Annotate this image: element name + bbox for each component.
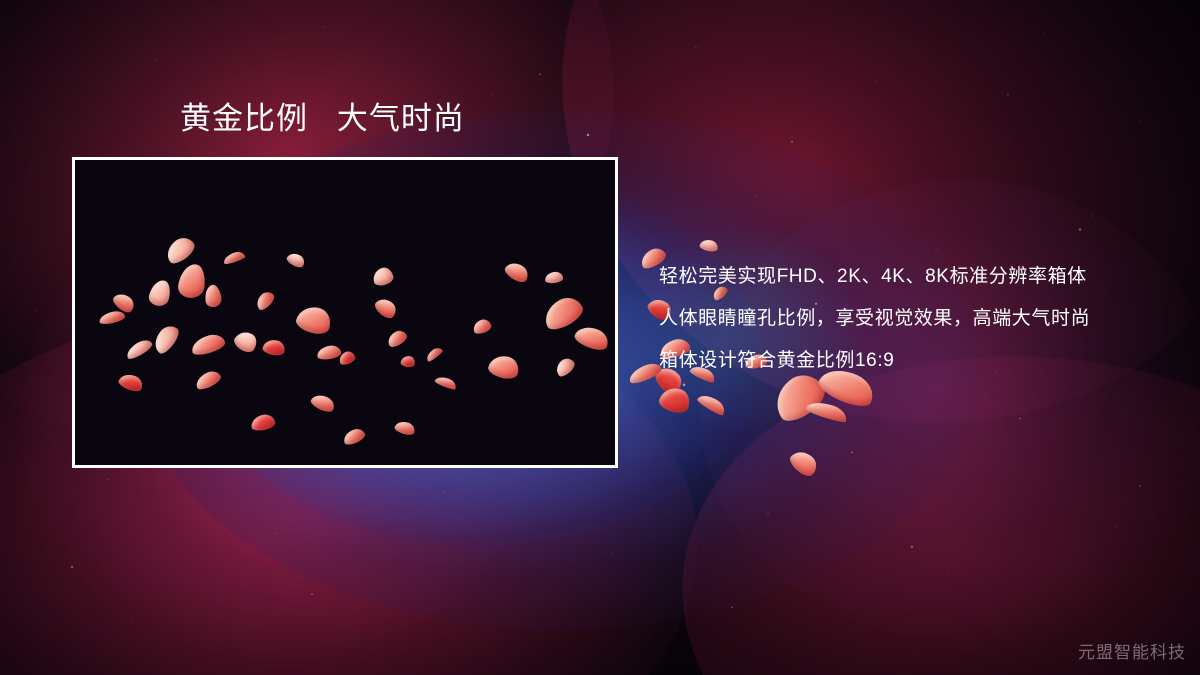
rose-petal [394,419,417,437]
rose-petal [385,328,409,349]
photo-inner-canvas [75,160,615,465]
rose-petal [471,318,492,336]
body-line-1: 轻松完美实现FHD、2K、4K、8K标准分辨率箱体 [659,256,1090,298]
rose-petal [503,259,532,286]
rose-petal [544,271,563,284]
rose-petal [162,233,198,267]
body-copy: 轻松完美实现FHD、2K、4K、8K标准分辨率箱体 人体眼睛瞳孔比例，享受视觉效… [659,256,1090,382]
rose-petal [371,266,395,287]
rose-petal [337,350,356,367]
rose-petal [177,262,207,299]
rose-petal [309,391,337,414]
rose-petal [98,309,126,325]
rose-petal [341,426,366,446]
presentation-slide: 黄金比例 大气时尚 轻松完美实现FHD、2K、4K、8K标准分辨率箱体 人体眼睛… [0,0,1200,675]
rose-petal [253,289,276,312]
page-title: 黄金比例 大气时尚 [180,100,465,137]
rose-petal [553,355,577,379]
rose-petal [539,292,587,334]
rose-petal [189,332,226,358]
body-line-2: 人体眼睛瞳孔比例，享受视觉效果，高端大气时尚 [659,298,1090,340]
rose-petal [124,337,154,361]
rose-petal [372,295,399,322]
rose-petal [400,355,416,368]
rose-petal [147,278,173,308]
rose-petal [434,374,458,391]
rose-petal [193,368,222,392]
rose-petal [117,371,145,394]
rose-petal [262,338,287,357]
rose-petal [111,290,137,316]
watermark: 元盟智能科技 [1078,638,1186,663]
nebula-cloud-magenta-right [700,180,1200,640]
rose-petal [294,302,334,337]
framed-photo [72,157,618,468]
rose-petal [150,322,183,357]
body-line-3: 箱体设计符合黄金比例16:9 [659,340,1090,382]
rose-petal [572,322,611,353]
rose-petal [204,284,223,308]
rose-petal [316,344,342,360]
rose-petal [487,352,522,381]
rose-petal [232,327,261,355]
rose-petal [285,250,307,269]
rose-petal [424,345,443,362]
rose-petal [222,250,246,265]
rose-petal [250,413,276,432]
